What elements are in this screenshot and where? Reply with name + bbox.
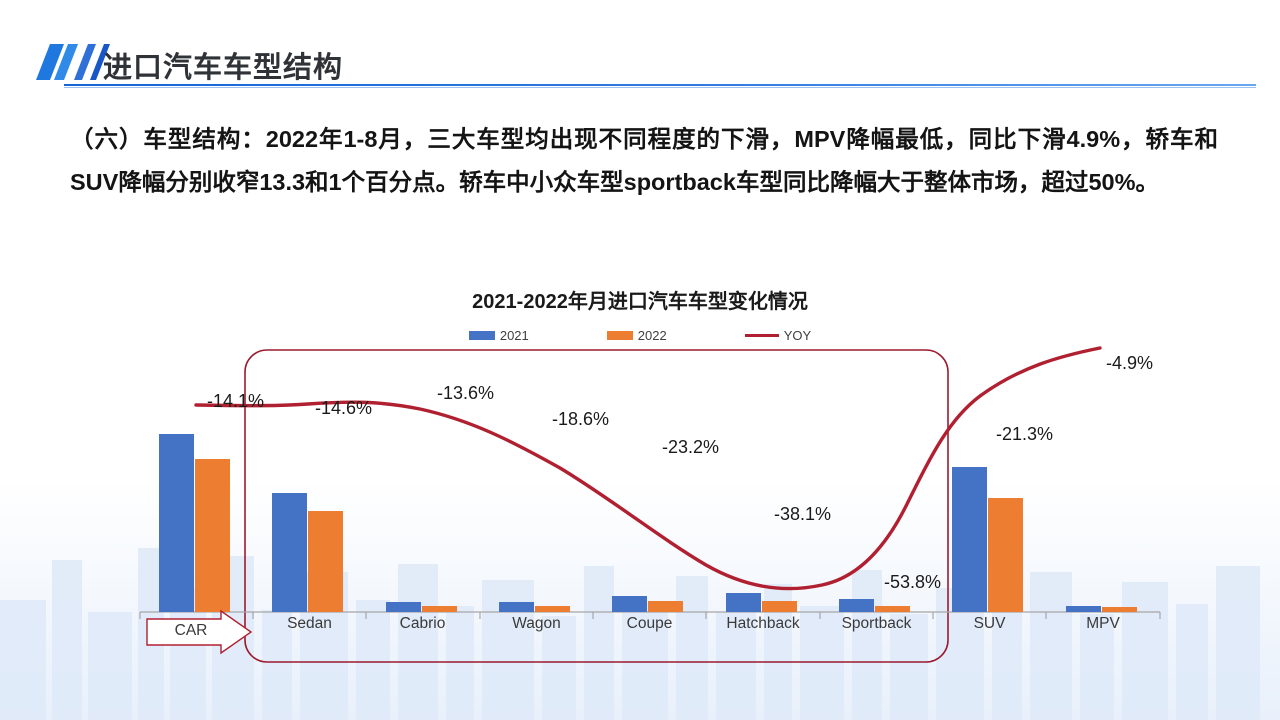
xlabel-hatchback: Hatchback: [706, 615, 820, 633]
xlabel-mpv: MPV: [1046, 615, 1160, 633]
bar-series-2021: [159, 434, 1101, 612]
bar-2022-suv: [988, 498, 1023, 612]
xlabel-wagon: Wagon: [480, 615, 593, 633]
yoy-label-sportback: -53.8%: [884, 572, 941, 593]
body-paragraph: （六）车型结构：2022年1-8月，三大车型均出现不同程度的下滑，MPV降幅最低…: [70, 118, 1218, 204]
bar-2022-car: [195, 459, 230, 612]
bar-2022-hatchback: [762, 601, 797, 612]
bar-2021-car: [159, 434, 194, 612]
bar-2022-cabrio: [422, 606, 457, 612]
xlabel-suv: SUV: [933, 615, 1046, 633]
bar-2021-coupe: [612, 596, 647, 612]
header-divider: [64, 84, 1256, 88]
yoy-label-sedan: -14.6%: [315, 398, 372, 419]
yoy-label-car: -14.1%: [207, 391, 264, 412]
yoy-label-suv: -21.3%: [996, 424, 1053, 445]
yoy-label-mpv: -4.9%: [1106, 353, 1153, 374]
yoy-label-coupe: -23.2%: [662, 437, 719, 458]
bar-2022-mpv: [1102, 607, 1137, 612]
chart-container: 2021-2022年月进口汽车车型变化情况 2021 2022 YOY: [0, 270, 1280, 690]
xlabel-sportback: Sportback: [820, 615, 933, 633]
bar-2021-wagon: [499, 602, 534, 612]
xlabel-sedan: Sedan: [253, 615, 366, 633]
xlabel-coupe: Coupe: [593, 615, 706, 633]
bar-2021-cabrio: [386, 602, 421, 612]
four-slash-logo-icon: [24, 42, 110, 82]
bar-series-2022: [195, 459, 1137, 612]
bar-2021-mpv: [1066, 606, 1101, 612]
yoy-label-wagon: -18.6%: [552, 409, 609, 430]
page-title: 进口汽车车型结构: [103, 44, 343, 86]
chart-plot-area: -14.1% -14.6% -13.6% -18.6% -23.2% -38.1…: [0, 270, 1280, 690]
xlabel-cabrio: Cabrio: [366, 615, 479, 633]
bar-2022-wagon: [535, 606, 570, 612]
bar-2022-sedan: [308, 511, 343, 612]
bar-2021-sedan: [272, 493, 307, 612]
bar-2021-hatchback: [726, 593, 761, 612]
yoy-label-hatchback: -38.1%: [774, 504, 831, 525]
slide-header: 进口汽车车型结构: [0, 0, 1280, 92]
bar-2021-sportback: [839, 599, 874, 612]
bar-2021-suv: [952, 467, 987, 612]
bar-2022-coupe: [648, 601, 683, 612]
yoy-label-cabrio: -13.6%: [437, 383, 494, 404]
bar-2022-sportback: [875, 606, 910, 612]
x-axis-labels: Sedan Cabrio Wagon Coupe Hatchback Sport…: [0, 615, 1280, 647]
